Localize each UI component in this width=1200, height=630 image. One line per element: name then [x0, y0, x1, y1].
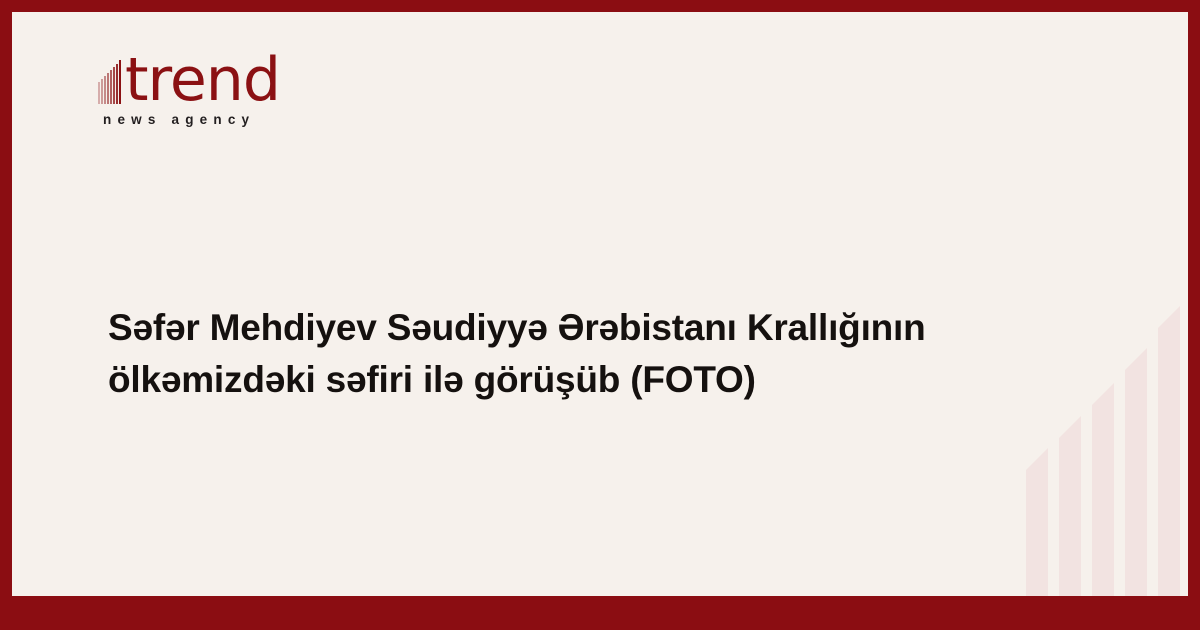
watermark-bar: [1092, 383, 1114, 596]
logo-row: trend: [98, 46, 398, 108]
watermark-bar: [1026, 448, 1048, 596]
watermark-bar: [1059, 416, 1081, 596]
bar-chamfer: [1059, 416, 1081, 438]
share-card: { "brand": { "logo_word": "trend", "logo…: [0, 0, 1200, 630]
bar-chamfer: [1026, 448, 1048, 470]
bar-chamfer: [1125, 348, 1147, 370]
bar-chamfer: [1158, 306, 1180, 328]
watermark-bar: [1125, 348, 1147, 596]
card-surface: trend news agency Səfər Mehdiyev Səudiyy…: [12, 12, 1188, 596]
ascending-bars-watermark: [1026, 156, 1176, 596]
bar-chamfer: [1092, 383, 1114, 405]
logo-tagline: news agency: [103, 112, 398, 127]
ascending-bars-icon: [98, 60, 124, 104]
trend-logo[interactable]: trend news agency: [98, 46, 398, 146]
logo-wordmark: trend: [125, 53, 280, 108]
watermark-bar: [1158, 306, 1180, 596]
headline: Səfər Mehdiyev Səudiyyə Ərəbistanı Krall…: [108, 302, 988, 407]
